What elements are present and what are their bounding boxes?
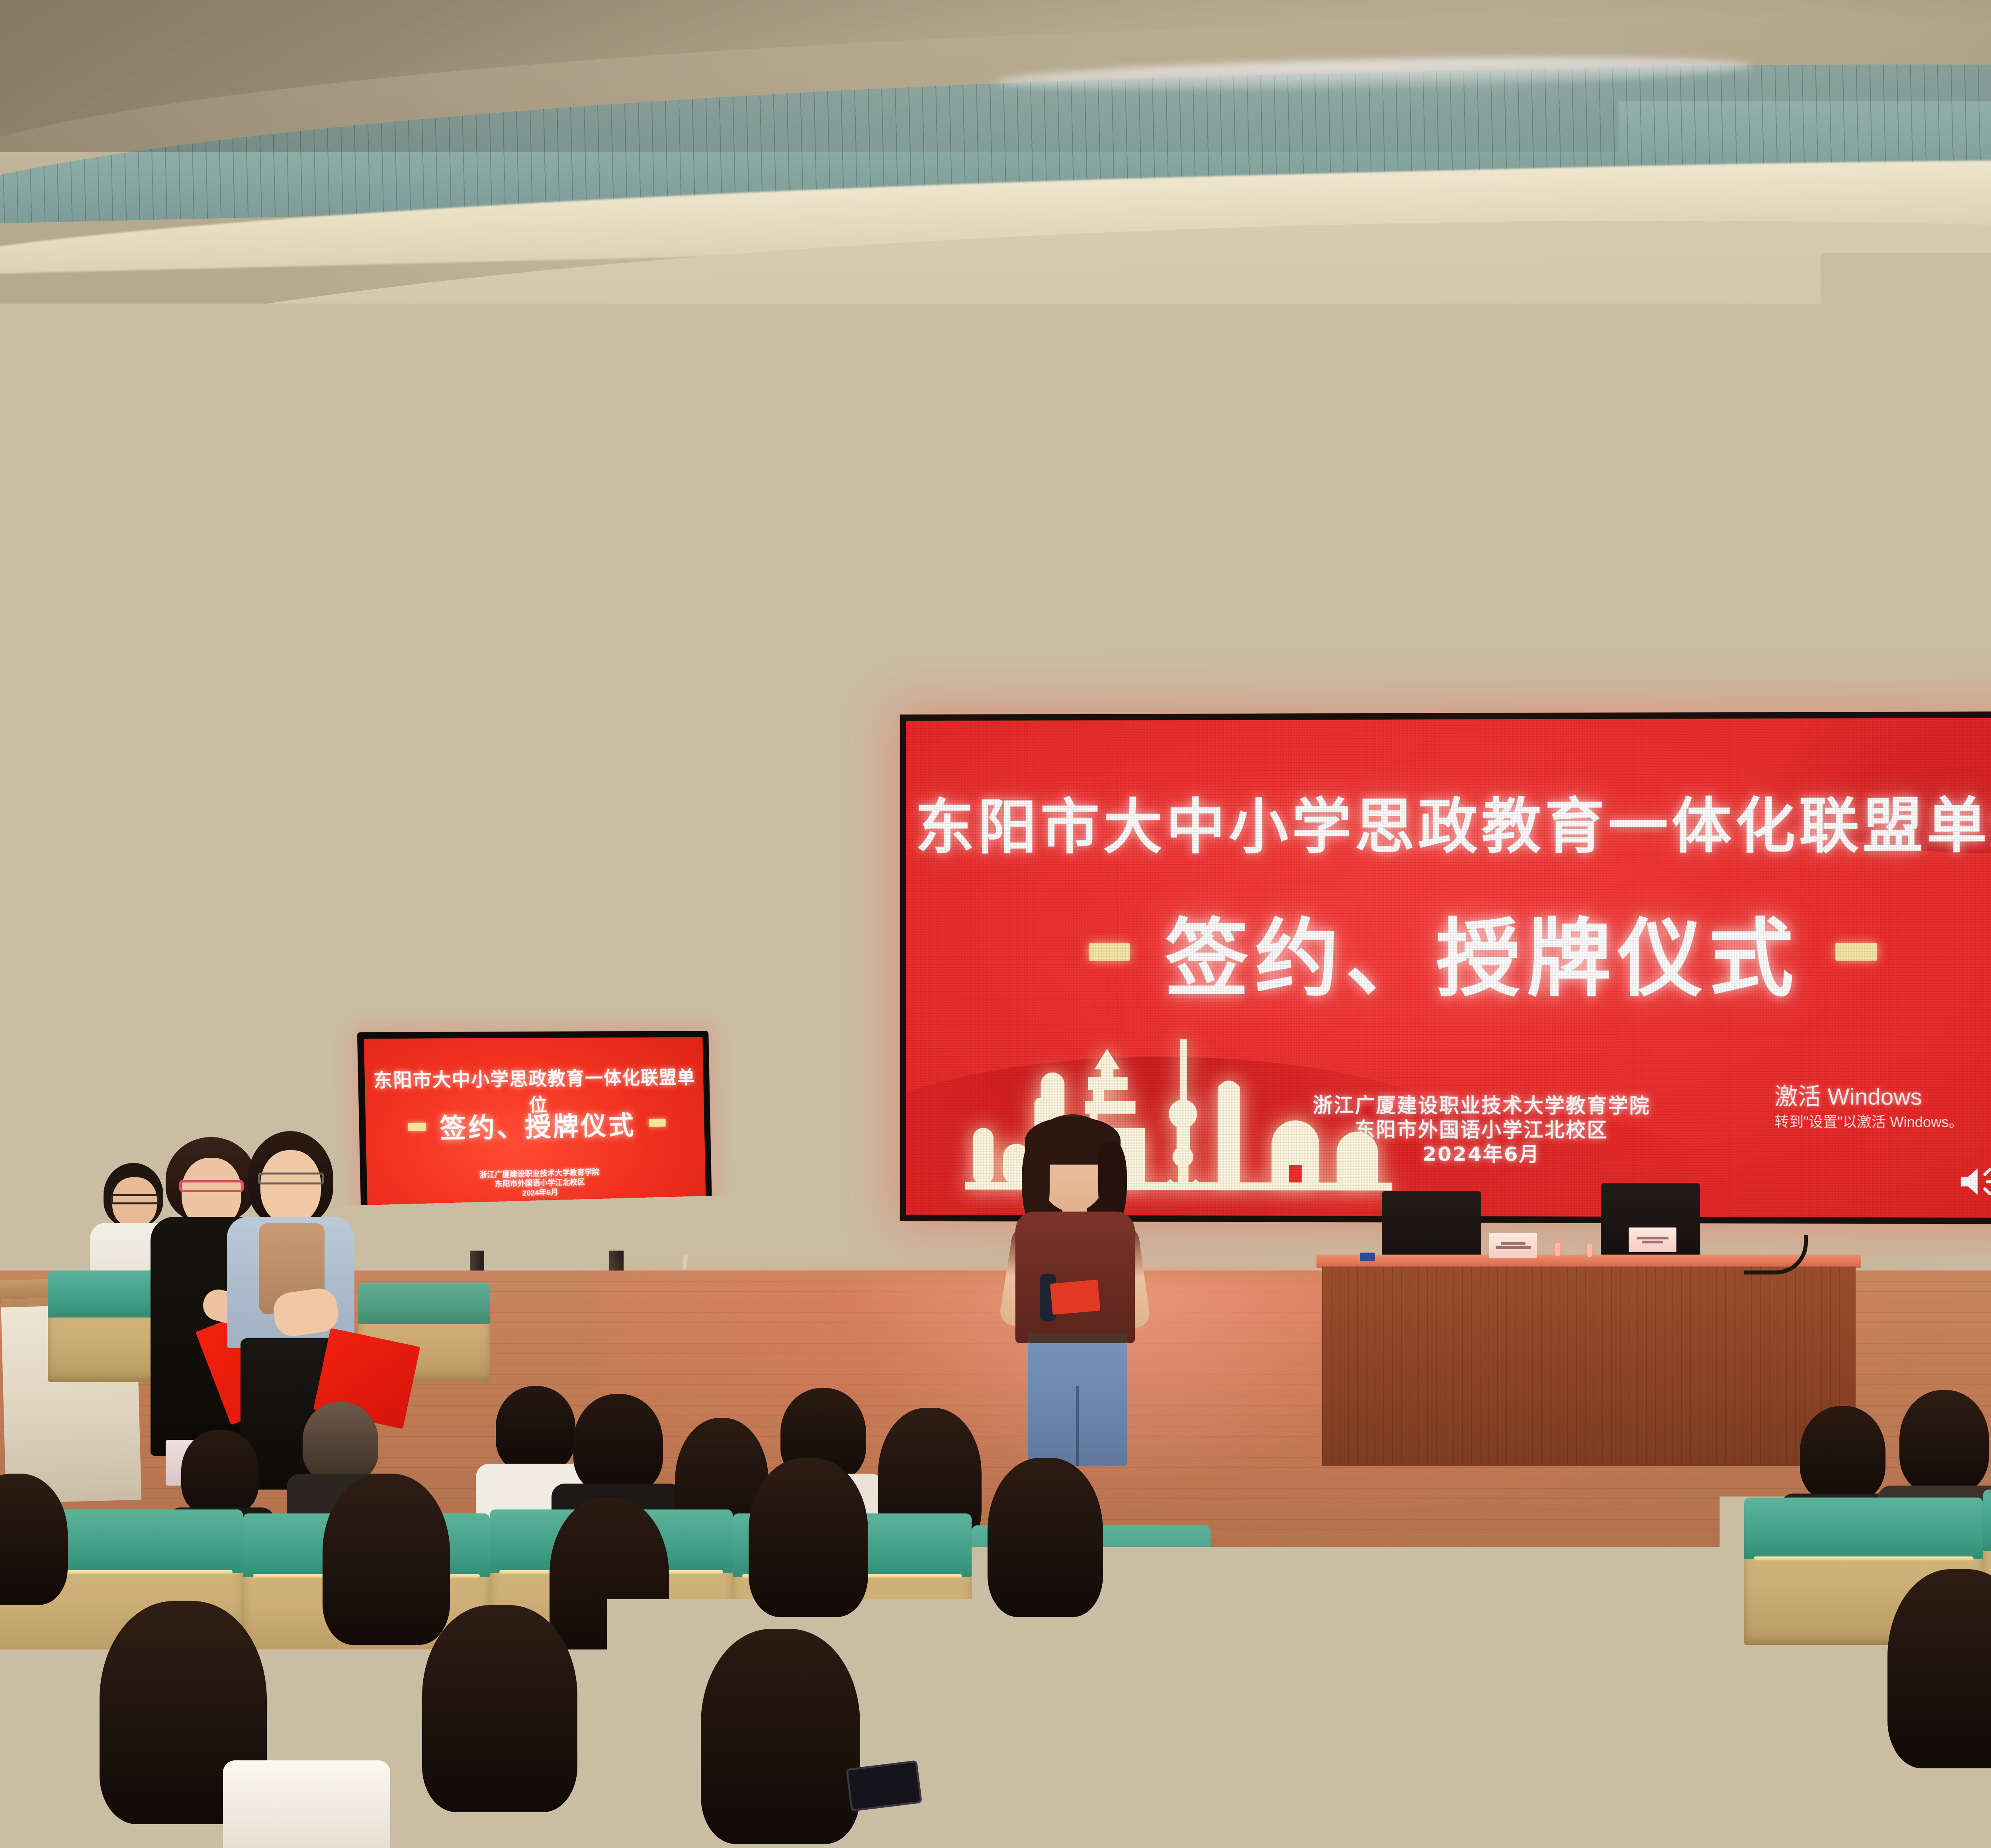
slide-dash-right-icon [1835,943,1877,960]
audience-seat[interactable] [1115,1713,1386,1848]
desk-mic-left [1555,1243,1560,1256]
control-room-window [207,956,323,1109]
name-placard-left [1489,1233,1537,1258]
name-placard-right [1629,1227,1676,1252]
speaker-icon [1958,1165,1991,1198]
slide-subtitle-row: 签约、授牌仪式 [906,890,1991,1013]
watermark-line-1: 激活 Windows [1775,1084,1963,1110]
slide-dash-left-icon [1089,943,1130,961]
line-array-speaker-left [645,693,725,968]
tablet-device[interactable] [846,1760,922,1811]
preview-dash-right-icon [649,1119,666,1127]
wall-panel-seam [741,574,742,1286]
watermark-line-2: 转到"设置"以激活 Windows。 [1775,1113,1963,1131]
desk-mic-right [1587,1243,1592,1257]
control-indicator-bar [203,1103,327,1121]
host-presenter [992,1107,1159,1466]
slide-subtitle: 签约、授牌仪式 [1165,890,1800,1013]
preview-dash-left-icon [408,1123,426,1131]
eyeglasses-icon [258,1173,324,1184]
red-cue-card [1050,1280,1100,1315]
preview-monitor-screen: 东阳市大中小学思政教育一体化联盟单位 签约、授牌仪式 浙江广厦建设职业技术大学教… [364,1037,707,1276]
signing-table [1322,1255,1856,1466]
auditorium-photo: 东阳市大中小学思政教育一体化联盟单位 签约、授牌仪式 浙江广厦建设职业技术大学教… [0,0,1991,1848]
preview-organizations: 浙江广厦建设职业技术大学教育学院 东阳市外国语小学江北校区 2024年6月 [367,1166,706,1202]
preview-subtitle: 签约、授牌仪式 [439,1104,636,1146]
table-clicker-device[interactable] [1360,1253,1375,1261]
slide-title: 东阳市大中小学思政教育一体化联盟单位 [906,777,1991,865]
audience-white-sleeve [223,1760,390,1848]
windows-activation-watermark: 激活 Windows 转到"设置"以激活 Windows。 [1775,1084,1963,1131]
